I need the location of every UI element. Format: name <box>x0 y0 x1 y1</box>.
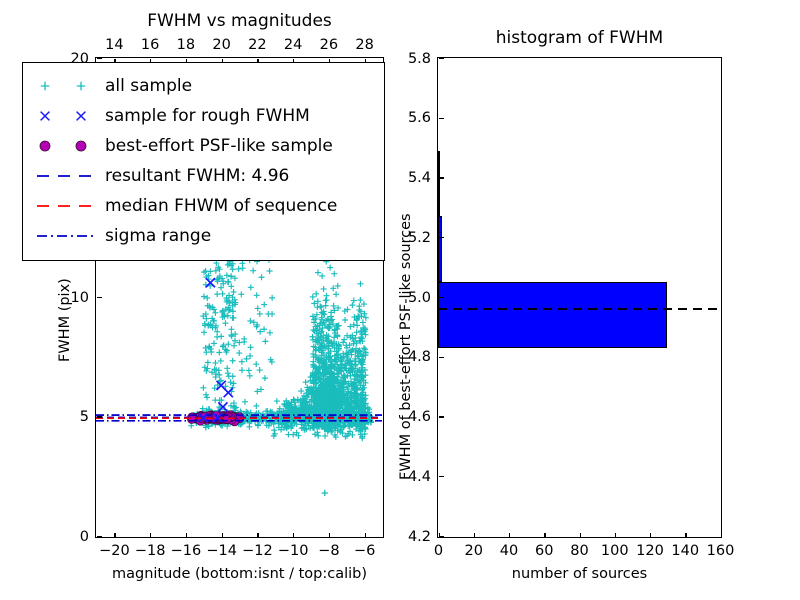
tick-mark-y <box>439 536 444 537</box>
tick-label-x-bottom: −6 <box>354 543 375 559</box>
tick-mark-y <box>439 297 444 298</box>
tick-label-x-top: 26 <box>320 37 338 53</box>
tick-label-x-top: 14 <box>105 37 123 53</box>
tick-mark-y-left <box>97 58 102 59</box>
legend-item[interactable]: best-effort PSF-like sample <box>33 131 374 161</box>
legend-item[interactable]: sigma range <box>33 221 374 251</box>
tick-label-x-bottom: −18 <box>135 543 166 559</box>
tick-mark-x-bottom <box>186 533 187 538</box>
tick-label-x-bottom: −10 <box>278 543 309 559</box>
tick-label-x-bottom: −14 <box>206 543 237 559</box>
tick-label-y-left: 0 <box>59 529 89 545</box>
tick-mark-y-left <box>97 416 102 417</box>
legend-item-label: median FHWM of sequence <box>105 198 337 215</box>
tick-label-x-bottom: −12 <box>242 543 273 559</box>
tick-mark-x-bottom <box>222 533 223 538</box>
legend-item[interactable]: median FHWM of sequence <box>33 191 374 221</box>
legend-item[interactable]: sample for rough FWHM <box>33 101 374 131</box>
tick-label-x-bottom: −8 <box>318 543 339 559</box>
tick-label-x: 20 <box>465 543 483 559</box>
tick-mark-x <box>580 533 581 538</box>
tick-label-y: 5.2 <box>397 230 431 246</box>
tick-label-x: 0 <box>434 543 443 559</box>
tick-mark-x <box>650 533 651 538</box>
tick-mark-x <box>721 533 722 538</box>
right-plot-axes[interactable] <box>437 57 722 538</box>
tick-label-x: 100 <box>601 543 629 559</box>
tick-mark-x-bottom <box>257 533 258 538</box>
tick-mark-x <box>615 533 616 538</box>
tick-label-y: 4.4 <box>397 469 431 485</box>
tick-label-x: 80 <box>570 543 588 559</box>
tick-label-x-top: 20 <box>212 37 230 53</box>
tick-label-x-top: 16 <box>141 37 159 53</box>
tick-mark-y <box>439 357 444 358</box>
tick-mark-y <box>439 416 444 417</box>
tick-mark-x <box>509 533 510 538</box>
tick-label-x-bottom: −16 <box>171 543 202 559</box>
tick-mark-x-bottom <box>365 533 366 538</box>
tick-label-x-top: 18 <box>177 37 195 53</box>
left-plot-title: FWHM vs magnitudes <box>95 11 384 31</box>
tick-label-y-left: 10 <box>59 290 89 306</box>
tick-label-x: 40 <box>500 543 518 559</box>
tick-label-y-left: 5 <box>59 409 89 425</box>
right-plot-ylabel: FWHM of best-effort PSF-like sources <box>398 213 414 480</box>
tick-label-x-top: 28 <box>355 37 373 53</box>
tick-mark-y <box>439 476 444 477</box>
legend-item-label: sigma range <box>105 228 211 245</box>
legend-marker-dashed-line <box>33 163 105 189</box>
tick-mark-y-left <box>97 297 102 298</box>
tick-label-y: 4.2 <box>397 529 431 545</box>
tick-label-x-top: 24 <box>284 37 302 53</box>
tick-label-x-bottom: −20 <box>99 543 130 559</box>
legend-item[interactable]: all sample <box>33 71 374 101</box>
legend-marker-dashed-line <box>33 193 105 219</box>
legend-marker-circle-marker <box>33 133 105 159</box>
tick-label-y: 5.4 <box>397 170 431 186</box>
tick-mark-x <box>544 533 545 538</box>
legend-box[interactable]: all samplesample for rough FWHMbest-effo… <box>22 62 385 261</box>
tick-label-y: 5.8 <box>397 51 431 67</box>
tick-mark-y <box>439 177 444 178</box>
tick-mark-x-bottom <box>114 533 115 538</box>
tick-label-y: 5.6 <box>397 110 431 126</box>
tick-mark-x <box>685 533 686 538</box>
legend-item-label: sample for rough FWHM <box>105 108 310 125</box>
legend-marker-plus-marker <box>33 73 105 99</box>
tick-label-x: 160 <box>707 543 735 559</box>
tick-mark-x-bottom <box>329 533 330 538</box>
tick-mark-y-left <box>97 536 102 537</box>
tick-label-x: 140 <box>671 543 699 559</box>
tick-label-y: 5.0 <box>397 290 431 306</box>
tick-label-x: 120 <box>636 543 664 559</box>
legend-marker-dashdot-line <box>33 223 105 249</box>
legend-item-label: best-effort PSF-like sample <box>105 138 333 155</box>
right-plot-xlabel: number of sources <box>437 566 722 582</box>
tick-mark-x <box>474 533 475 538</box>
tick-mark-x-bottom <box>293 533 294 538</box>
tick-label-y: 4.8 <box>397 349 431 365</box>
legend-item-label: resultant FWHM: 4.96 <box>105 168 289 185</box>
right-plot-title: histogram of FWHM <box>437 28 722 48</box>
tick-label-x: 60 <box>535 543 553 559</box>
legend-item-label: all sample <box>105 78 192 95</box>
legend-item[interactable]: resultant FWHM: 4.96 <box>33 161 374 191</box>
tick-label-x-top: 22 <box>248 37 266 53</box>
legend-marker-x-marker <box>33 103 105 129</box>
tick-label-y: 4.6 <box>397 409 431 425</box>
tick-mark-x-bottom <box>150 533 151 538</box>
histogram-median-line-layer <box>438 58 720 536</box>
histogram-data-area <box>438 58 721 537</box>
tick-mark-y <box>439 58 444 59</box>
tick-mark-y <box>439 237 444 238</box>
tick-mark-y <box>439 118 444 119</box>
left-plot-xlabel: magnitude (bottom:isnt / top:calib) <box>95 566 384 582</box>
figure-canvas: FWHM vs magnitudes magnitude (bottom:isn… <box>0 0 800 600</box>
